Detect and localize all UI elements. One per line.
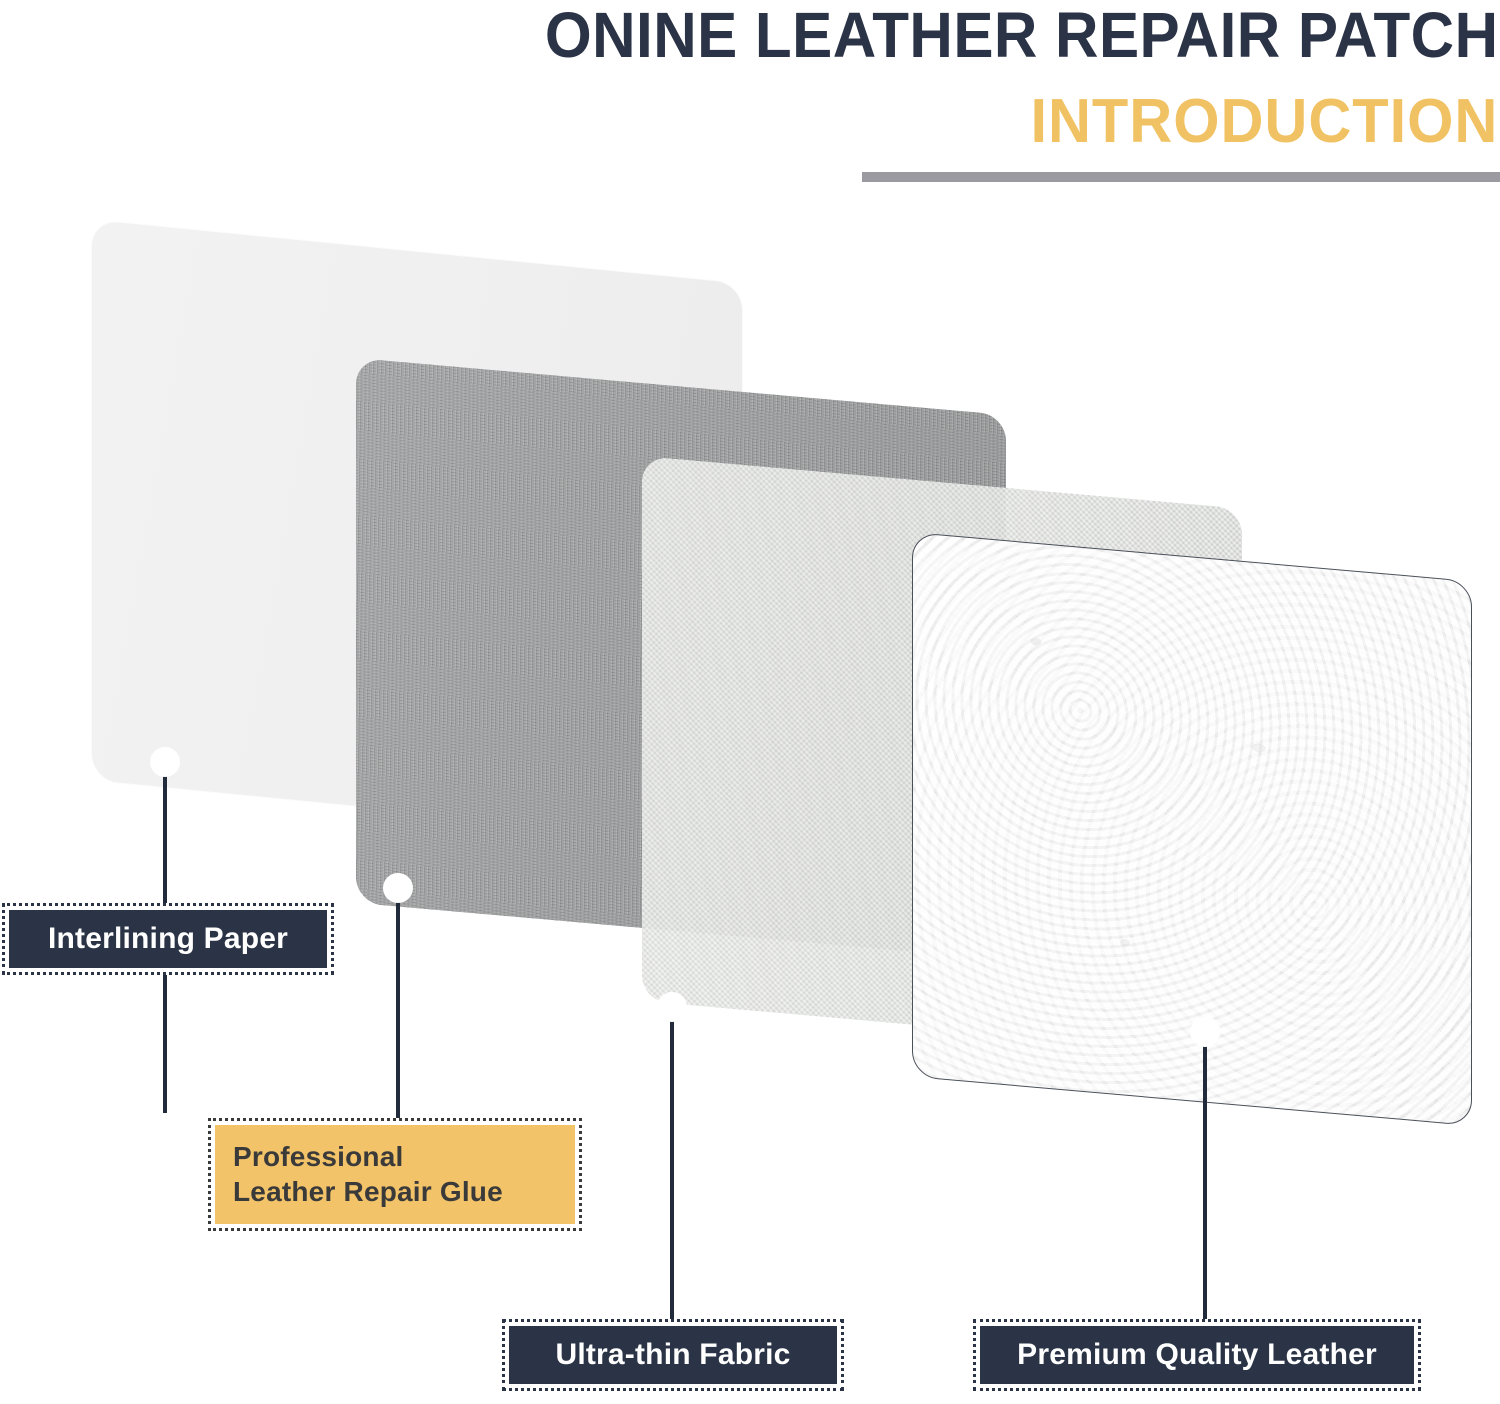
callout-label-ultra-thin-fabric: Ultra-thin Fabric xyxy=(555,1337,790,1374)
callout-label-interlining-paper: Interlining Paper xyxy=(48,921,288,958)
title-underline-bar xyxy=(862,172,1500,182)
callout-fill: Interlining Paper xyxy=(9,910,327,968)
exploded-layer-diagram xyxy=(0,196,1500,1196)
leader-line-premium-leather xyxy=(1203,1032,1207,1319)
page-title: ONINE LEATHER REPAIR PATCH xyxy=(544,0,1498,74)
infographic-root: ONINE LEATHER REPAIR PATCH INTRODUCTION … xyxy=(0,0,1500,1404)
callout-interlining-paper[interactable]: Interlining Paper xyxy=(2,903,334,975)
callout-fill: Premium Quality Leather xyxy=(980,1326,1414,1384)
callout-label-premium-leather: Premium Quality Leather xyxy=(1017,1337,1377,1374)
callout-premium-leather[interactable]: Premium Quality Leather xyxy=(973,1319,1421,1391)
leader-line-ultra-thin-fabric xyxy=(670,1007,674,1319)
header: ONINE LEATHER REPAIR PATCH INTRODUCTION xyxy=(0,0,1500,200)
callout-repair-glue[interactable]: Professional Leather Repair Glue xyxy=(208,1118,582,1231)
leader-line-repair-glue xyxy=(396,888,400,1122)
callout-label-repair-glue: Professional Leather Repair Glue xyxy=(233,1140,503,1208)
page-subtitle: INTRODUCTION xyxy=(1030,86,1498,158)
callout-fill: Professional Leather Repair Glue xyxy=(215,1125,575,1224)
pin-dot-interlining-paper xyxy=(150,747,180,777)
pin-dot-repair-glue xyxy=(383,873,413,903)
pin-dot-premium-leather xyxy=(1190,1017,1220,1047)
callout-fill: Ultra-thin Fabric xyxy=(509,1326,837,1384)
pin-dot-ultra-thin-fabric xyxy=(657,992,687,1022)
callout-ultra-thin-fabric[interactable]: Ultra-thin Fabric xyxy=(502,1319,844,1391)
